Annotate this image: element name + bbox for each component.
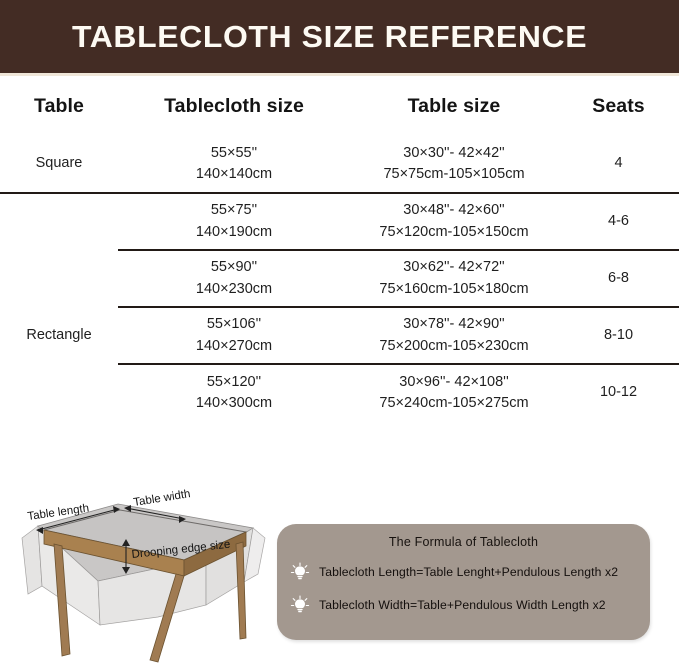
cloth-size-inches: 55×55'' [118, 143, 350, 164]
formula-box: The Formula of Tablecloth Tablecloth Len… [277, 524, 650, 640]
cloth-size-inches: 55×75'' [118, 200, 350, 221]
cell-tablecloth-size: 55×55'' 140×140cm [118, 136, 350, 193]
formula-text-width: Tablecloth Width=Table+Pendulous Width L… [319, 598, 606, 612]
cell-tablecloth-size: 55×106'' 140×270cm [118, 307, 350, 364]
cloth-size-inches: 55×106'' [118, 314, 350, 335]
cell-seats: 10-12 [558, 364, 679, 421]
cell-tablecloth-size: 55×120'' 140×300cm [118, 364, 350, 421]
cloth-size-inches: 55×90'' [118, 257, 350, 278]
cell-seats: 4 [558, 136, 679, 193]
formula-title: The Formula of Tablecloth [277, 524, 650, 549]
table-size-cm: 75×75cm-105×105cm [350, 164, 558, 185]
table-row: Square 55×55'' 140×140cm 30×30''- 42×42'… [0, 136, 679, 193]
formula-line-length: Tablecloth Length=Table Lenght+Pendulous… [277, 562, 650, 582]
table-size-inches: 30×48''- 42×60'' [350, 200, 558, 221]
cell-table-type [0, 364, 118, 421]
table-size-inches: 30×62''- 42×72'' [350, 257, 558, 278]
cell-tablecloth-size: 55×90'' 140×230cm [118, 250, 350, 307]
lightbulb-icon [290, 562, 310, 582]
table-size-inches: 30×30''- 42×42'' [350, 143, 558, 164]
page-title: TABLECLOTH SIZE REFERENCE [72, 21, 587, 52]
cloth-size-cm: 140×300cm [118, 393, 350, 414]
table-row: 55×75'' 140×190cm 30×48''- 42×60'' 75×12… [0, 193, 679, 250]
lightbulb-icon [290, 595, 310, 615]
cell-table-size: 30×78''- 42×90'' 75×200cm-105×230cm [350, 307, 558, 364]
table-row: 55×90'' 140×230cm 30×62''- 42×72'' 75×16… [0, 250, 679, 307]
column-header-table-type: Table [0, 76, 118, 136]
cell-seats: 4-6 [558, 193, 679, 250]
cell-table-size: 30×48''- 42×60'' 75×120cm-105×150cm [350, 193, 558, 250]
cell-table-type [0, 193, 118, 250]
cell-table-size: 30×30''- 42×42'' 75×75cm-105×105cm [350, 136, 558, 193]
cloth-size-cm: 140×270cm [118, 336, 350, 357]
table-size-cm: 75×200cm-105×230cm [350, 336, 558, 357]
cloth-size-cm: 140×230cm [118, 279, 350, 300]
column-header-tablecloth-size: Tablecloth size [118, 76, 350, 136]
label-table-width: Table width [133, 488, 192, 509]
cell-table-size: 30×62''- 42×72'' 75×160cm-105×180cm [350, 250, 558, 307]
page-header-banner: TABLECLOTH SIZE REFERENCE [0, 0, 679, 73]
cloth-size-inches: 55×120'' [118, 372, 350, 393]
table-size-cm: 75×160cm-105×180cm [350, 279, 558, 300]
column-header-table-size: Table size [350, 76, 558, 136]
cell-table-type: Square [0, 136, 118, 193]
table-size-cm: 75×120cm-105×150cm [350, 222, 558, 243]
table-size-inches: 30×78''- 42×90'' [350, 314, 558, 335]
cell-seats: 8-10 [558, 307, 679, 364]
table-row: 55×120'' 140×300cm 30×96''- 42×108'' 75×… [0, 364, 679, 421]
cell-table-type [0, 250, 118, 307]
cell-tablecloth-size: 55×75'' 140×190cm [118, 193, 350, 250]
cloth-size-cm: 140×190cm [118, 222, 350, 243]
size-reference-table: Table Tablecloth size Table size Seats S… [0, 76, 679, 421]
formula-text-length: Tablecloth Length=Table Lenght+Pendulous… [319, 565, 618, 579]
table-size-inches: 30×96''- 42×108'' [350, 372, 558, 393]
table-row: Rectangle 55×106'' 140×270cm 30×78''- 42… [0, 307, 679, 364]
column-header-seats: Seats [558, 76, 679, 136]
table-header-row: Table Tablecloth size Table size Seats [0, 76, 679, 136]
formula-line-width: Tablecloth Width=Table+Pendulous Width L… [277, 595, 650, 615]
cell-table-size: 30×96''- 42×108'' 75×240cm-105×275cm [350, 364, 558, 421]
cell-seats: 6-8 [558, 250, 679, 307]
cell-table-type: Rectangle [0, 307, 118, 364]
cloth-size-cm: 140×140cm [118, 164, 350, 185]
table-size-cm: 75×240cm-105×275cm [350, 393, 558, 414]
size-reference-table-wrap: Table Tablecloth size Table size Seats S… [0, 76, 679, 421]
table-diagram: Table length Table width Drooping edge s… [8, 486, 278, 663]
